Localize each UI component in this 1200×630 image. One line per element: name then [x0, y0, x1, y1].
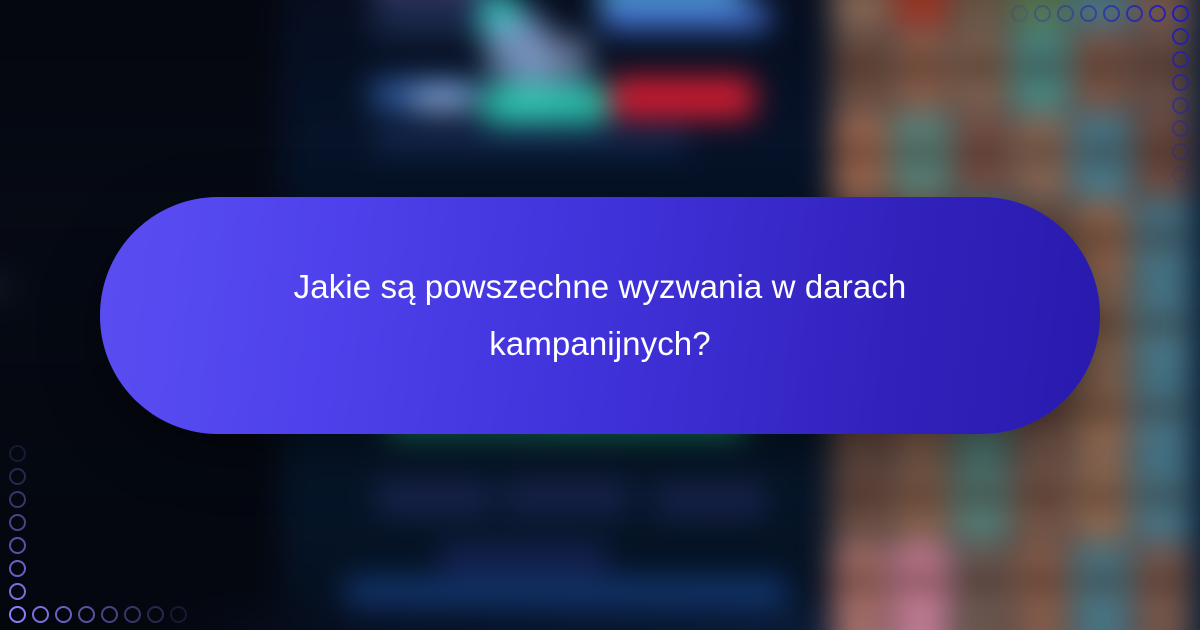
- background-thumbnail: [892, 458, 949, 541]
- decor-ring: [9, 491, 26, 508]
- background-thumbnail: [1013, 544, 1070, 627]
- background-ui-blob: [600, 2, 770, 30]
- background-thumbnail: [1073, 29, 1130, 112]
- decor-ring: [78, 606, 95, 623]
- background-thumbnail: [1133, 286, 1190, 369]
- decor-ring: [1172, 97, 1189, 114]
- background-ui-blob: [481, 85, 608, 123]
- decor-ring: [1172, 51, 1189, 68]
- decor-ring: [124, 606, 141, 623]
- background-thumbnail: [953, 0, 1010, 26]
- background-thumbnail: [1133, 372, 1190, 455]
- decor-ring: [1172, 74, 1189, 91]
- background-thumbnail: [1073, 458, 1130, 541]
- decor-ring: [1103, 5, 1120, 22]
- background-thumbnail: [832, 458, 889, 541]
- decor-ring: [1149, 5, 1166, 22]
- background-thumbnail: [1073, 544, 1130, 627]
- decor-ring: [9, 560, 26, 577]
- background-ui-blob: [651, 481, 768, 517]
- decor-ring: [1172, 143, 1189, 160]
- background-thumbnail: [1073, 372, 1130, 455]
- decor-ring: [32, 606, 49, 623]
- background-thumbnail: [892, 29, 949, 112]
- decor-ring: [1011, 5, 1028, 22]
- background-thumbnail: [1073, 115, 1130, 198]
- decor-ring: [1034, 5, 1051, 22]
- decor-rings-top-right-row: [1008, 2, 1192, 25]
- decor-ring: [1057, 5, 1074, 22]
- og-image-canvas: Jakie są powszechne wyzwania w darach ka…: [0, 0, 1200, 630]
- decor-rings-bottom-left-row: [6, 603, 190, 626]
- decor-ring: [147, 606, 164, 623]
- decor-ring: [9, 514, 26, 531]
- question-text: Jakie są powszechne wyzwania w darach ka…: [180, 259, 1020, 373]
- decor-ring: [1080, 5, 1097, 22]
- background-thumbnail: [953, 458, 1010, 541]
- background-ui-blob: [439, 543, 609, 573]
- background-thumbnail: [1013, 458, 1070, 541]
- background-ui-blob: [375, 479, 492, 515]
- question-card: Jakie są powszechne wyzwania w darach ka…: [100, 197, 1100, 434]
- background-thumbnail: [892, 0, 949, 26]
- decor-ring: [9, 537, 26, 554]
- background-ui-blob: [343, 577, 788, 607]
- decor-ring: [1126, 5, 1143, 22]
- decor-ring: [9, 445, 26, 462]
- background-thumbnail: [892, 544, 949, 627]
- background-ui-blob: [611, 77, 755, 119]
- decor-ring: [1172, 166, 1189, 183]
- background-thumbnail: [1133, 201, 1190, 284]
- background-ui-blob: [371, 130, 689, 151]
- background-thumbnail: [832, 29, 889, 112]
- background-thumbnail: [1133, 458, 1190, 541]
- decor-ring: [170, 606, 187, 623]
- decor-rings-top-right-column: [1169, 2, 1192, 186]
- background-thumbnail: [892, 115, 949, 198]
- background-thumbnail: [832, 0, 889, 26]
- background-thumbnail: [953, 544, 1010, 627]
- background-thumbnail: [832, 115, 889, 198]
- background-thumbnail: [1013, 29, 1070, 112]
- decor-ring: [1172, 28, 1189, 45]
- background-thumbnail: [832, 544, 889, 627]
- background-thumbnail: [1133, 544, 1190, 627]
- decor-ring: [1172, 120, 1189, 137]
- background-sidebar-chip: [0, 276, 15, 299]
- background-thumbnail: [953, 115, 1010, 198]
- background-thumbnail: [953, 29, 1010, 112]
- decor-rings-bottom-left-column: [6, 442, 29, 626]
- decor-ring: [9, 468, 26, 485]
- decor-ring: [9, 583, 26, 600]
- decor-ring: [101, 606, 118, 623]
- background-thumbnail: [1013, 115, 1070, 198]
- background-ui-blob: [502, 477, 629, 515]
- background-ui-blob: [411, 87, 475, 110]
- decor-ring: [55, 606, 72, 623]
